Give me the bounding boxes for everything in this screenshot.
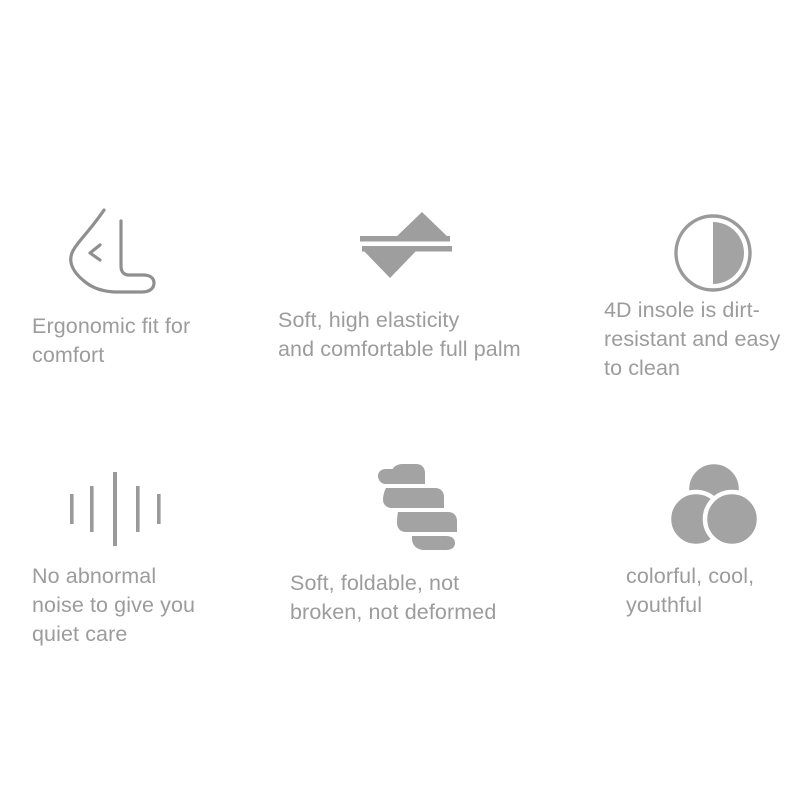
feature-caption: Soft, high elasticity and comfortable fu… xyxy=(278,306,578,364)
feature-caption: No abnormal noise to give you quiet care xyxy=(32,562,264,649)
half-filled-circle-contrast-icon xyxy=(672,212,754,294)
three-overlapping-circles-icon xyxy=(668,458,760,550)
sound-wave-bars-icon xyxy=(62,468,170,550)
feature-caption: colorful, cool, youthful xyxy=(626,562,800,620)
feature-caption: 4D insole is dirt- resistant and easy to… xyxy=(604,296,800,383)
feature-cell-foldable: Soft, foldable, not broken, not deformed xyxy=(270,450,590,660)
elasticity-compression-arrows-icon xyxy=(354,208,458,282)
feature-caption: Ergonomic fit for comfort xyxy=(32,312,264,370)
folded-fabric-icon xyxy=(372,458,468,554)
feature-cell-elasticity: Soft, high elasticity and comfortable fu… xyxy=(270,190,590,400)
feature-highlight-board: Ergonomic fit for comfort Soft, high ela… xyxy=(0,0,800,800)
feature-caption: Soft, foldable, not broken, not deformed xyxy=(290,569,590,627)
feature-cell-ergonomic-fit: Ergonomic fit for comfort xyxy=(0,190,270,400)
foot-ankle-outline-icon xyxy=(62,205,170,297)
feature-cell-colorful: colorful, cool, youthful xyxy=(590,450,800,660)
feature-cell-no-noise: No abnormal noise to give you quiet care xyxy=(0,450,270,660)
feature-cell-dirt-resistant: 4D insole is dirt- resistant and easy to… xyxy=(590,190,800,400)
